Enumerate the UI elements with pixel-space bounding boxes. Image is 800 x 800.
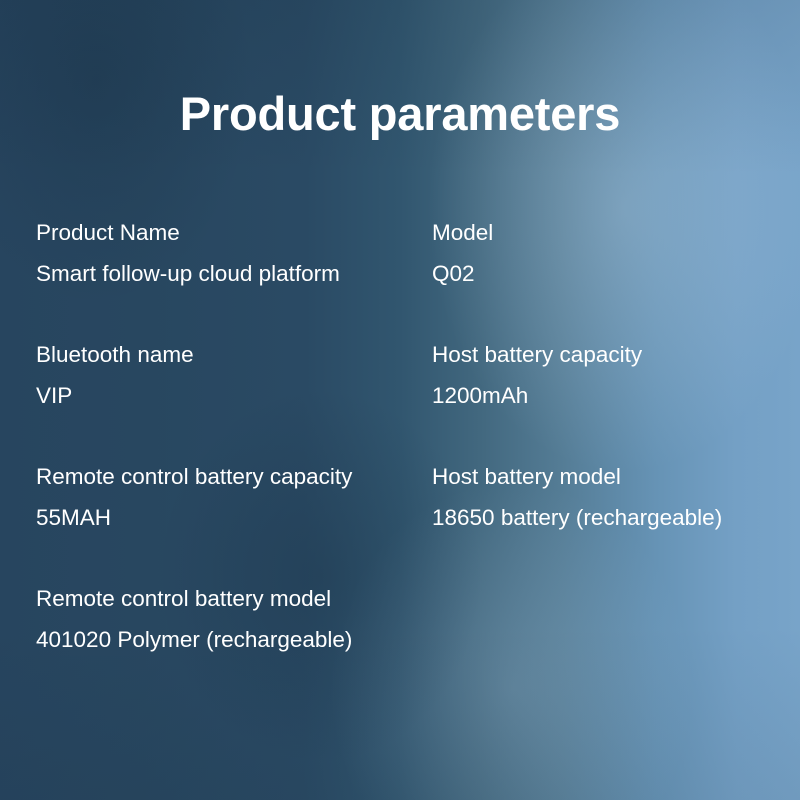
table-row: Bluetooth name VIP Host battery capacity… [0, 334, 800, 456]
table-row: Remote control battery capacity 55MAH Ho… [0, 456, 800, 578]
spec-value: Q02 [432, 253, 493, 294]
table-row: Remote control battery model 401020 Poly… [0, 578, 800, 700]
spec-cell-remote-battery-model: Remote control battery model 401020 Poly… [36, 578, 352, 660]
spec-value: Smart follow-up cloud platform [36, 253, 340, 294]
spec-label: Remote control battery capacity [36, 456, 352, 497]
spec-label: Remote control battery model [36, 578, 352, 619]
spec-value: VIP [36, 375, 194, 416]
table-row: Product Name Smart follow-up cloud platf… [0, 212, 800, 334]
spec-label: Host battery model [432, 456, 722, 497]
spec-cell-host-battery-capacity: Host battery capacity 1200mAh [432, 334, 642, 416]
spec-cell-bluetooth-name: Bluetooth name VIP [36, 334, 194, 416]
specification-table: Product Name Smart follow-up cloud platf… [0, 212, 800, 700]
spec-value: 401020 Polymer (rechargeable) [36, 619, 352, 660]
spec-cell-product-name: Product Name Smart follow-up cloud platf… [36, 212, 340, 294]
spec-cell-model: Model Q02 [432, 212, 493, 294]
spec-label: Host battery capacity [432, 334, 642, 375]
spec-cell-remote-battery-capacity: Remote control battery capacity 55MAH [36, 456, 352, 538]
spec-cell-host-battery-model: Host battery model 18650 battery (rechar… [432, 456, 722, 538]
spec-label: Model [432, 212, 493, 253]
spec-value: 18650 battery (rechargeable) [432, 497, 722, 538]
spec-value: 1200mAh [432, 375, 642, 416]
product-parameters-panel: Product parameters Product Name Smart fo… [0, 0, 800, 800]
page-title: Product parameters [0, 90, 800, 137]
spec-value: 55MAH [36, 497, 352, 538]
panel-content: Product parameters Product Name Smart fo… [0, 0, 800, 800]
spec-label: Product Name [36, 212, 340, 253]
spec-label: Bluetooth name [36, 334, 194, 375]
